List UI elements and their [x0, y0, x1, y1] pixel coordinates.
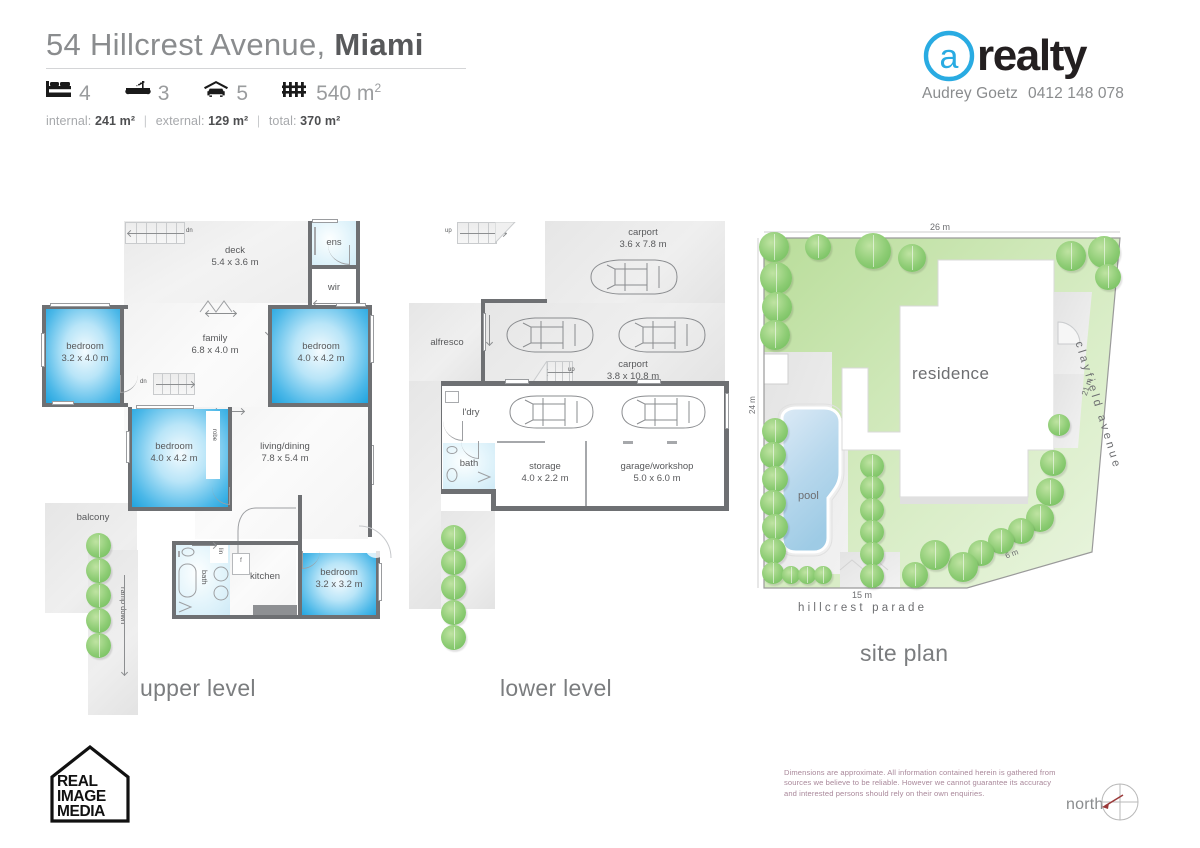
window-bed1-left: [41, 333, 45, 367]
stair-down-top-arrow: [128, 233, 184, 234]
bath-icon: [125, 80, 151, 103]
stair-down-top-label: dn: [186, 228, 193, 235]
wall-bath-left: [172, 541, 176, 619]
storage-label: storage 4.0 x 2.2 m: [505, 461, 585, 484]
tree: [760, 320, 790, 350]
deck-label: deck 5.4 x 3.6 m: [190, 245, 280, 268]
wall-bed4-bottom: [298, 615, 380, 619]
stat-bedrooms: 4: [46, 80, 91, 103]
stat-bathrooms-value: 3: [158, 84, 170, 103]
disclaimer-text: Dimensions are approximate. All informat…: [784, 768, 1062, 799]
address-suburb: Miami: [334, 27, 423, 62]
tree: [1095, 264, 1121, 290]
window-alfresco: [483, 313, 486, 351]
bedroom-1-label: bedroom 3.2 x 4.0 m: [49, 341, 121, 364]
tree: [860, 498, 884, 522]
window-bed3-top: [136, 405, 194, 409]
tree: [762, 562, 784, 584]
shower-icon: [477, 471, 493, 483]
wall-bed2-left: [268, 305, 272, 407]
svg-text:a: a: [940, 38, 959, 76]
robe-label: robe: [210, 429, 217, 441]
window-lower-1: [505, 379, 529, 384]
wall-ens-left: [308, 221, 312, 307]
car-icon: [617, 393, 709, 431]
external-label: external:: [156, 114, 205, 128]
north-label: north: [1066, 796, 1103, 814]
tree: [860, 542, 884, 566]
window-bed3-left: [126, 431, 130, 463]
real-image-media-logo[interactable]: REAL IMAGE MEDIA: [48, 743, 132, 823]
carport-lower-label: carport 3.8 x 10.8 m: [583, 359, 683, 382]
bedroom-2-label: bedroom 4.0 x 4.2 m: [286, 341, 356, 364]
stat-land: 540 m2: [282, 79, 381, 103]
lower-level-caption: lower level: [500, 675, 612, 702]
basin-icon: [180, 547, 196, 557]
page-title: 54 Hillcrest Avenue, Miami: [46, 28, 516, 62]
tree: [86, 583, 111, 608]
basin-icon: [445, 445, 459, 455]
alfresco-arrow: [489, 315, 490, 345]
tree: [762, 514, 788, 540]
tree: [1040, 450, 1066, 476]
agent-name: Audrey Goetz: [922, 85, 1018, 102]
total-label: total:: [269, 114, 297, 128]
window-bed4-right: [378, 563, 382, 601]
agent-contact: Audrey Goetz0412 148 078: [922, 85, 1152, 103]
tree: [814, 566, 832, 584]
wall-ens-bottom: [308, 265, 356, 269]
floorplan-upper-level: balcony ramp down deck 5.4 x 3.6 m dn en…: [40, 215, 400, 625]
bed-icon: [46, 80, 72, 103]
title-block: 54 Hillcrest Avenue, Miami 4: [46, 28, 516, 128]
internal-label: internal:: [46, 114, 91, 128]
tree: [760, 490, 786, 516]
residence-label: residence: [912, 364, 989, 384]
tree: [855, 233, 891, 269]
toilet-icon: [445, 467, 459, 483]
stair-chamfer-2: [533, 361, 549, 383]
external-value: 129 m²: [208, 114, 248, 128]
window-bed1-bottom: [52, 401, 74, 405]
balcony-label: balcony: [62, 512, 124, 524]
stat-bathrooms: 3: [125, 80, 170, 103]
tree: [441, 550, 466, 575]
tree: [760, 442, 786, 468]
fence-icon: [282, 80, 309, 103]
car-icon: [585, 257, 681, 297]
wall-living-right: [368, 407, 372, 537]
garage-mark-1: [623, 441, 633, 444]
road-hillcrest-parade: hillcrest parade: [798, 602, 927, 614]
tree: [1036, 478, 1064, 506]
ens-vanity: [314, 227, 316, 255]
stair-up-top-label: up: [445, 228, 452, 235]
agent-phone: 0412 148 078: [1028, 85, 1124, 102]
rim-line-3: MEDIA: [57, 803, 105, 820]
wall-lower-bottom: [491, 506, 729, 511]
wall-bath-bottom: [172, 615, 302, 619]
tree: [762, 418, 788, 444]
bathroom-label: bath: [200, 570, 209, 585]
property-stats: 4 3: [46, 78, 516, 104]
bedroom-4-label: bedroom 3.2 x 3.2 m: [306, 567, 372, 590]
fridge-label: f: [236, 558, 246, 565]
tree: [948, 552, 978, 582]
tree: [759, 232, 789, 262]
car-icon: [613, 315, 709, 355]
kitchen-bench: [253, 605, 297, 615]
upper-level-caption: upper level: [140, 675, 256, 702]
entry-door-swing: [358, 525, 392, 559]
tree: [860, 454, 884, 478]
shower-icon: [178, 601, 194, 613]
bifold-door-deck: [198, 299, 248, 313]
area-separator-1: |: [144, 114, 147, 128]
tree: [1048, 414, 1070, 436]
wall-lower-top: [437, 381, 729, 386]
car-icon: [203, 80, 229, 103]
tree: [86, 633, 111, 658]
tree: [86, 558, 111, 583]
tree: [1056, 241, 1086, 271]
dim-south-boundary: 15 m: [852, 590, 872, 600]
tree: [441, 575, 466, 600]
tree: [760, 262, 792, 294]
tree: [805, 234, 831, 260]
linen-label: lin: [216, 548, 223, 554]
alfresco-label: alfresco: [413, 337, 481, 349]
stat-carspaces-value: 5: [236, 84, 248, 103]
address-street: 54 Hillcrest Avenue,: [46, 27, 334, 62]
window-bed1-top: [50, 303, 110, 307]
window-ens: [312, 219, 338, 223]
brand-logo[interactable]: a realty Audrey Goetz0412 148 078: [922, 30, 1152, 103]
floorplan-lower-level: carport 3.6 x 7.8 m up alfresco carport …: [405, 215, 735, 625]
laundry-label: l'dry: [449, 407, 493, 419]
tree: [762, 466, 788, 492]
tree: [760, 538, 786, 564]
window-lower-2: [637, 379, 661, 384]
north-indicator: north: [1066, 781, 1141, 828]
wir-label: wir: [317, 282, 351, 294]
island-bench-curve: [236, 507, 300, 555]
window-bed2-right: [370, 315, 374, 363]
site-plan: 26 m 24 m 21 m 6 m 15 m residence pool c…: [752, 222, 1152, 622]
stair-down-mid-arrow: [156, 384, 194, 385]
tree: [441, 625, 466, 650]
stat-carspaces: 5: [203, 80, 248, 103]
bedroom-3-robe: [206, 411, 220, 479]
title-divider: [46, 68, 466, 69]
tree: [441, 525, 466, 550]
wall-bed3-bottom: [128, 507, 232, 511]
tree: [902, 562, 928, 588]
garage-workshop-label: garage/workshop 5.0 x 6.0 m: [601, 461, 713, 484]
compass-icon: [1099, 781, 1141, 828]
dim-north-boundary: 26 m: [930, 222, 950, 232]
tree: [86, 533, 111, 558]
stair-down-mid-label: dn: [140, 379, 147, 386]
garage-mark-2: [667, 441, 677, 444]
area-separator-2: |: [257, 114, 260, 128]
ramp-arrow: [124, 575, 125, 675]
tree: [860, 520, 884, 544]
stair-chamfer: [495, 222, 517, 244]
carport-upper-label: carport 3.6 x 7.8 m: [593, 227, 693, 250]
footer: REAL IMAGE MEDIA Dimensions are approxim…: [0, 735, 1200, 848]
living-dining-label: living/dining 7.8 x 5.4 m: [240, 441, 330, 464]
area-summary: internal: 241 m² | external: 129 m² | to…: [46, 114, 516, 128]
logo-mark: a realty: [922, 30, 1152, 82]
wall-bath-bottom-l: [437, 489, 495, 494]
pool-label: pool: [798, 490, 819, 502]
tree: [1088, 236, 1120, 268]
site-plan-caption: site plan: [860, 640, 948, 667]
stat-land-unit-sup: 2: [374, 81, 381, 95]
tree: [762, 292, 792, 322]
family-deck-arrow: [206, 313, 236, 314]
cooktop-icon: [210, 563, 232, 607]
window-lower-right: [725, 393, 729, 429]
dim-west-boundary: 24 m: [748, 396, 757, 414]
bath-entry-arrow: [192, 545, 216, 546]
car-icon: [501, 315, 597, 355]
total-value: 370 m²: [300, 114, 340, 128]
car-icon: [505, 393, 597, 431]
storage-garage-divider: [585, 441, 587, 509]
laundry-tub: [445, 391, 459, 403]
storage-partition-stub: [497, 441, 545, 443]
family-label: family 6.8 x 4.0 m: [170, 333, 260, 356]
wall-ens-right: [356, 221, 360, 307]
logo-wordmark: realty: [977, 34, 1086, 78]
tree: [860, 476, 884, 500]
header: 54 Hillcrest Avenue, Miami 4: [0, 0, 1200, 160]
bedroom-3-label: bedroom 4.0 x 4.2 m: [138, 441, 210, 464]
at-symbol-icon: a: [922, 29, 976, 83]
tree: [860, 564, 884, 588]
stat-bedrooms-value: 4: [79, 84, 91, 103]
tree: [86, 608, 111, 633]
bathtub-icon: [178, 563, 198, 599]
tree: [441, 600, 466, 625]
internal-value: 241 m²: [95, 114, 135, 128]
tree: [898, 244, 926, 272]
stair-up-mid-label: up: [568, 367, 575, 374]
stat-land-value: 540 m2: [316, 79, 381, 103]
wall-alfresco-top: [481, 299, 547, 303]
window-bed2-top: [336, 303, 366, 307]
lower-side-paving: [409, 381, 441, 609]
